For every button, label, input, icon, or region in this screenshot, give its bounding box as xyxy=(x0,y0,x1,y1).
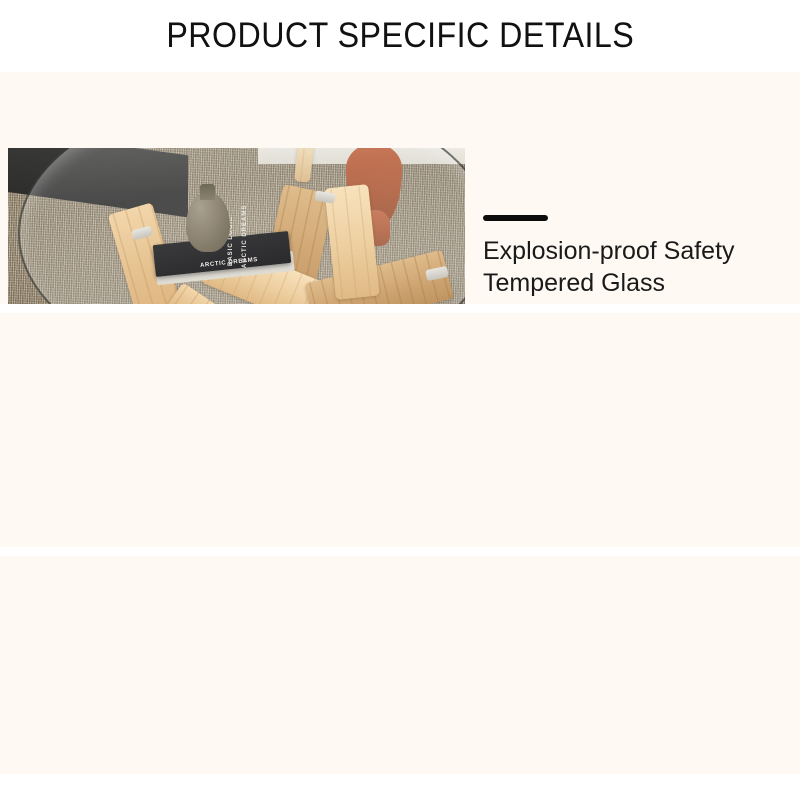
panel-1-caption: Explosion-proof Safety Tempered Glass xyxy=(483,215,735,299)
panel-1-photo: ARCTIC DREAMS BASIC LOGIC ARCTIC DREAMS xyxy=(8,148,465,304)
vase-neck xyxy=(200,184,215,200)
book-cover-label-2: ARCTIC DREAMS xyxy=(242,205,248,268)
caption-line: Tempered Glass xyxy=(483,267,735,299)
panel-3-background xyxy=(0,556,800,774)
detail-panel-1: ARCTIC DREAMS BASIC LOGIC ARCTIC DREAMS … xyxy=(0,72,800,304)
panel-2-background xyxy=(0,313,800,547)
detail-panel-2: MDF Support Leg Stable & Durable ARCTIC … xyxy=(0,313,800,547)
detail-panel-3: Anti Slip Sturdy And Durable xyxy=(0,556,800,774)
ceramic-vase xyxy=(186,192,230,252)
accent-rule-icon xyxy=(483,215,548,221)
page-header: PRODUCT SPECIFIC DETAILS xyxy=(0,0,800,72)
caption-line: Explosion-proof Safety xyxy=(483,235,735,267)
page-title: PRODUCT SPECIFIC DETAILS xyxy=(166,16,634,56)
